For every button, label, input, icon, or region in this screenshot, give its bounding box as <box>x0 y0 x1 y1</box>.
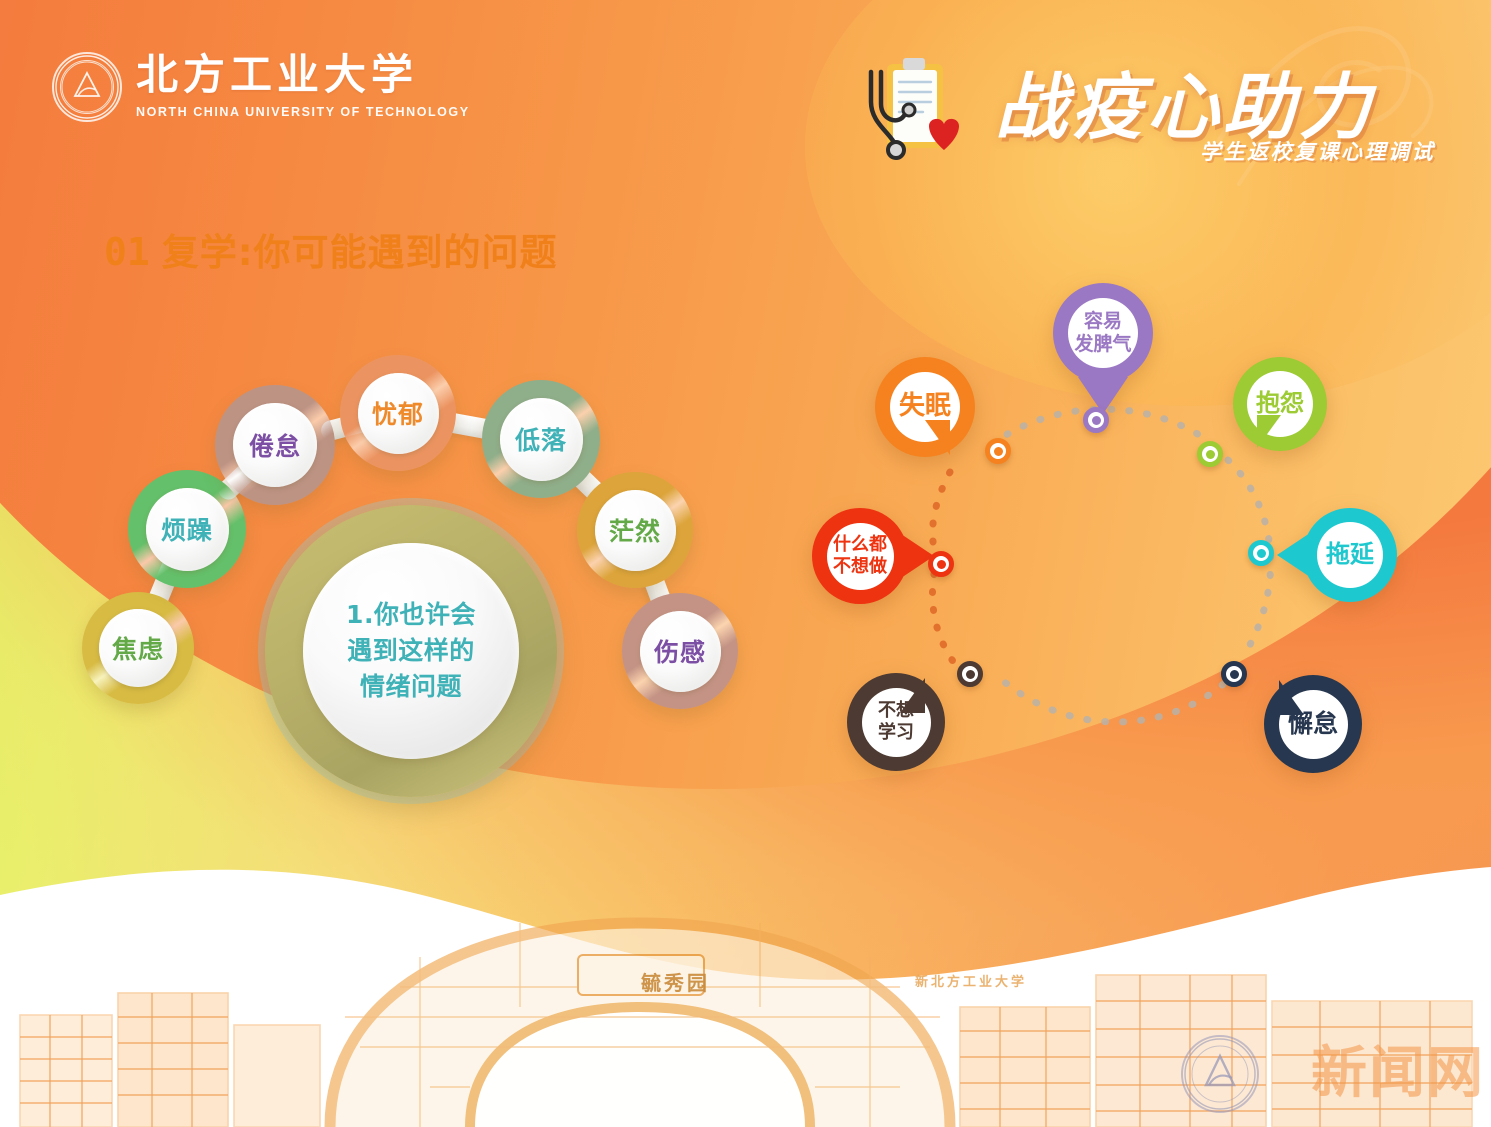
behavior-marker-3[interactable] <box>1197 441 1223 467</box>
university-logo: 北方工业大学 NORTH CHINA UNIVERSITY OF TECHNOL… <box>52 52 470 122</box>
emotion-hub-line-1: 1.你也许会 <box>346 597 476 633</box>
emotion-node-4[interactable]: 忧郁 <box>340 355 456 471</box>
behavior-marker-7[interactable] <box>928 551 954 577</box>
behavior-marker-dot <box>1092 416 1101 425</box>
section-heading: 01复学:你可能遇到的问题 <box>104 222 558 276</box>
behavior-pin-label: 不想做 <box>833 556 887 578</box>
emotion-node-face: 忧郁 <box>358 373 439 454</box>
behavior-marker-6[interactable] <box>957 661 983 687</box>
behavior-pin-2[interactable]: 容易发脾气 <box>1053 283 1153 383</box>
emotion-node-5[interactable]: 低落 <box>482 380 600 498</box>
behavior-pin-tail <box>1279 680 1304 715</box>
behavior-pin-label: 容易 <box>1084 310 1122 333</box>
emotion-node-label: 倦怠 <box>249 427 301 463</box>
behavior-marker-5[interactable] <box>1221 661 1247 687</box>
behavior-pin-4[interactable]: 拖延 <box>1303 508 1397 602</box>
poster-canvas: 北方工业大学 NORTH CHINA UNIVERSITY OF TECHNOL… <box>0 0 1491 1127</box>
gate-plaque-text: 毓秀园 <box>641 967 710 996</box>
behavior-pin-5[interactable]: 懈怠 <box>1264 675 1362 773</box>
section-title: 复学:你可能遇到的问题 <box>162 231 558 274</box>
behavior-marker-dot <box>994 447 1003 456</box>
logo-chinese-name: 北方工业大学 <box>136 55 470 97</box>
behavior-pin-1[interactable]: 失眠 <box>875 357 975 457</box>
behavior-pin-tail <box>898 532 934 580</box>
university-seal-watermark-icon <box>1181 1035 1259 1113</box>
behavior-marker-dot <box>1206 450 1215 459</box>
emotion-node-label: 低落 <box>515 421 567 457</box>
behavior-pin-face: 拖延 <box>1317 522 1383 588</box>
behavior-pin-label: 失眠 <box>899 391 951 423</box>
behavior-pin-label: 学习 <box>878 722 914 744</box>
behavior-marker-dot <box>1257 549 1266 558</box>
behavior-pin-tail <box>1277 531 1313 579</box>
behavior-pin-label: 拖延 <box>1326 540 1374 569</box>
behavior-marker-dot <box>1230 670 1239 679</box>
building-sign-text: 新北方工业大学 <box>915 971 1027 990</box>
emotion-node-face: 低落 <box>500 398 583 481</box>
emotion-node-face: 烦躁 <box>146 488 229 571</box>
emotion-node-face: 倦怠 <box>233 403 317 487</box>
campus-skyline-illustration <box>0 897 1491 1127</box>
emotion-node-1[interactable]: 焦虑 <box>82 592 194 704</box>
logo-english-name: NORTH CHINA UNIVERSITY OF TECHNOLOGY <box>136 106 470 119</box>
behavior-marker-dot <box>937 560 946 569</box>
emotion-node-label: 烦躁 <box>161 511 213 547</box>
emotion-node-label: 忧郁 <box>372 395 424 431</box>
emotion-node-label: 茫然 <box>609 512 661 548</box>
clipboard-icon <box>865 52 965 168</box>
emotion-node-face: 焦虑 <box>99 609 177 687</box>
emotion-hub-line-3: 情绪问题 <box>360 669 462 705</box>
emotion-hub: 1.你也许会 遇到这样的 情绪问题 <box>265 505 557 797</box>
section-number: 01 <box>104 230 150 274</box>
behavior-marker-dot <box>966 670 975 679</box>
behavior-pin-tail <box>1257 415 1281 448</box>
behavior-pin-label: 什么都 <box>833 534 887 556</box>
watermark-text: 新闻网 <box>1311 1028 1485 1109</box>
university-seal-icon <box>52 52 122 122</box>
behavior-pin-tail <box>925 420 950 455</box>
emotion-node-6[interactable]: 茫然 <box>577 472 693 588</box>
emotion-node-7[interactable]: 伤感 <box>622 593 738 709</box>
behavior-pin-face: 容易发脾气 <box>1068 298 1138 368</box>
emotion-node-3[interactable]: 倦怠 <box>215 385 335 505</box>
banner-subtitle: 学生返校复课心理调试 <box>1200 136 1435 166</box>
emotion-node-label: 伤感 <box>654 633 706 669</box>
behavior-pin-label: 发脾气 <box>1074 333 1131 356</box>
behavior-pin-face: 什么都不想做 <box>827 523 894 590</box>
emotion-node-face: 伤感 <box>640 611 721 692</box>
emotion-node-face: 茫然 <box>595 490 676 571</box>
behavior-pin-tail <box>900 678 925 713</box>
emotion-node-2[interactable]: 烦躁 <box>128 470 246 588</box>
behavior-marker-4[interactable] <box>1248 540 1274 566</box>
emotion-hub-line-2: 遇到这样的 <box>347 633 475 669</box>
behavior-pin-3[interactable]: 抱怨 <box>1233 357 1327 451</box>
behavior-marker-1[interactable] <box>985 438 1011 464</box>
behavior-pin-6[interactable]: 不想学习 <box>847 673 945 771</box>
title-banner: 战疫心助力 学生返校复课心理调试 <box>855 38 1455 178</box>
behavior-pin-7[interactable]: 什么都不想做 <box>812 508 908 604</box>
behavior-marker-2[interactable] <box>1083 407 1109 433</box>
emotion-node-label: 焦虑 <box>112 630 164 666</box>
